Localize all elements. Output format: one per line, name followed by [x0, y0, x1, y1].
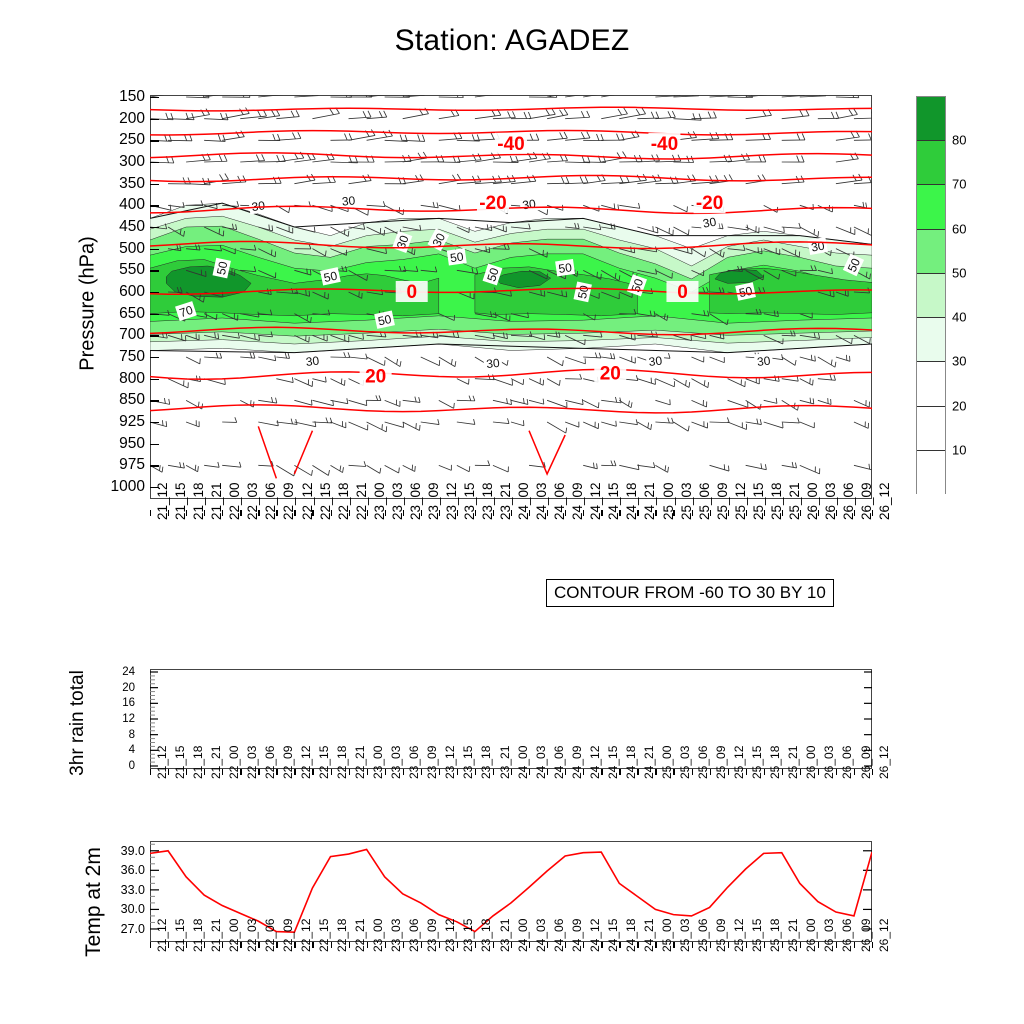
rain-time-label-25_06: 25_06	[696, 746, 710, 779]
pressure-tick-mark	[150, 465, 159, 466]
time-tick-mark	[475, 510, 476, 516]
svg-text:30: 30	[341, 193, 356, 208]
svg-text:-20: -20	[696, 193, 723, 214]
time-tick-mark	[782, 510, 783, 516]
time-tick-mark	[818, 769, 819, 775]
time-tick-mark	[331, 942, 332, 948]
time-tick-mark	[547, 769, 548, 775]
time-tick-mark	[222, 510, 223, 516]
time-tick-mark	[349, 942, 350, 948]
svg-text:20: 20	[600, 363, 621, 384]
time-tick-mark	[547, 510, 548, 516]
time-tick-mark	[439, 769, 440, 775]
time-tick-mark	[457, 942, 458, 948]
rain-time-label-23_03: 23_03	[389, 746, 403, 779]
time-tick-mark	[764, 769, 765, 775]
time-tick-mark	[312, 769, 313, 775]
colorbar-label-40: 40	[952, 310, 966, 325]
temp-time-label-24_18: 24_18	[624, 919, 638, 952]
svg-text:30: 30	[702, 215, 718, 231]
colorbar-band-8	[917, 451, 945, 495]
pressure-tick-mark	[150, 422, 159, 423]
rain-time-label-23_18: 23_18	[479, 746, 493, 779]
rain-time-label-26_09: 26_09	[859, 746, 873, 779]
time-tick-mark	[565, 769, 566, 775]
rain-time-label-24_09: 24_09	[570, 746, 584, 779]
temp-time-label-26_03: 26_03	[822, 919, 836, 952]
contour-label-30: 30	[699, 213, 719, 231]
rain-time-axis-labels: 21_1221_1521_1821_2122_0022_0322_0622_09…	[150, 775, 872, 837]
time-tick-mark	[511, 510, 512, 516]
time-tick-mark	[331, 769, 332, 775]
pressure-tick-600: 600	[119, 283, 145, 301]
time-tick-mark	[728, 942, 729, 948]
temp-time-axis-labels: 21_1221_1521_1821_2122_0022_0322_0622_09…	[150, 948, 872, 1010]
rain-time-label-22_03: 22_03	[245, 746, 259, 779]
svg-text:20: 20	[365, 367, 386, 388]
time-tick-mark	[637, 769, 638, 775]
svg-text:-20: -20	[479, 193, 506, 214]
rain-time-label-21_15: 21_15	[173, 746, 187, 779]
time-tick-mark	[710, 769, 711, 775]
temp-tick-30.0: 30.0	[121, 902, 145, 916]
time-tick-mark	[403, 942, 404, 948]
pressure-tick-mark	[150, 444, 159, 445]
temp-tick-33.0: 33.0	[121, 883, 145, 897]
pressure-tick-mark	[150, 335, 159, 336]
temperature-contour	[150, 369, 872, 379]
rain-time-label-25_15: 25_15	[750, 746, 764, 779]
rain-time-label-23_21: 23_21	[498, 746, 512, 779]
temp-time-label-22_03: 22_03	[245, 919, 259, 952]
time-tick-mark	[619, 942, 620, 948]
time-tick-mark	[421, 942, 422, 948]
contour-label-50: 50	[447, 248, 467, 265]
rain-tick-4: 4	[129, 744, 135, 756]
time-tick-mark	[655, 942, 656, 948]
temp-time-label-24_09: 24_09	[570, 919, 584, 952]
contour-label-30: 30	[646, 352, 665, 369]
time-tick-mark	[655, 510, 656, 516]
time-tick-mark	[782, 942, 783, 948]
time-tick-mark	[728, 510, 729, 516]
rain-time-label-22_21: 22_21	[353, 746, 367, 779]
pressure-tick-450: 450	[119, 218, 145, 236]
time-tick-mark	[276, 510, 277, 516]
time-tick-mark	[385, 510, 386, 516]
time-tick-mark	[673, 942, 674, 948]
pressure-tick-mark	[150, 357, 159, 358]
time-tick-mark	[601, 510, 602, 516]
time-tick-mark	[692, 510, 693, 516]
temp-time-label-25_15: 25_15	[750, 919, 764, 952]
rain-time-label-24_00: 24_00	[516, 746, 530, 779]
time-tick-mark	[294, 942, 295, 948]
time-tick-mark	[872, 769, 873, 775]
rain-time-label-22_15: 22_15	[317, 746, 331, 779]
temp-time-label-25_06: 25_06	[696, 919, 710, 952]
time-tick-mark	[493, 769, 494, 775]
pressure-tick-800: 800	[119, 370, 145, 388]
temp-contour-label-20: 20	[594, 362, 626, 384]
time-tick-mark	[583, 510, 584, 516]
svg-text:30: 30	[521, 197, 536, 213]
time-tick-mark	[349, 510, 350, 516]
contour-caption: CONTOUR FROM -60 TO 30 BY 10	[546, 579, 834, 607]
temp-time-label-21_21: 21_21	[209, 919, 223, 952]
time-tick-mark	[565, 942, 566, 948]
temp-time-label-21_18: 21_18	[191, 919, 205, 952]
time-tick-mark	[854, 942, 855, 948]
contour-label-30: 30	[303, 352, 322, 369]
pressure-tick-mark	[150, 97, 159, 98]
time-tick-mark	[746, 769, 747, 775]
temp-time-label-25_00: 25_00	[660, 919, 674, 952]
temp-time-label-26_00: 26_00	[804, 919, 818, 952]
rain-time-label-25_12: 25_12	[732, 746, 746, 779]
time-tick-mark	[258, 510, 259, 516]
rain-time-label-23_00: 23_00	[371, 746, 385, 779]
time-tick-mark	[421, 769, 422, 775]
time-tick-mark	[186, 510, 187, 516]
pressure-tick-mark	[150, 292, 159, 293]
time-tick-mark	[746, 510, 747, 516]
contour-label-30: 30	[808, 237, 828, 255]
svg-text:0: 0	[677, 282, 688, 303]
rain-time-label-23_09: 23_09	[425, 746, 439, 779]
temp-time-label-26_09: 26_09	[859, 919, 873, 952]
time-tick-mark	[258, 942, 259, 948]
temp-time-label-23_09: 23_09	[425, 919, 439, 952]
pressure-tick-mark	[150, 314, 159, 315]
rain-time-label-24_15: 24_15	[606, 746, 620, 779]
temp-time-label-23_12: 23_12	[443, 919, 457, 952]
time-tick-mark	[673, 510, 674, 516]
colorbar-label-60: 60	[952, 221, 966, 236]
rain-time-label-26_03: 26_03	[822, 746, 836, 779]
pressure-tick-650: 650	[119, 305, 145, 323]
rain-time-label-23_06: 23_06	[407, 746, 421, 779]
time-tick-mark	[294, 769, 295, 775]
rain-time-label-24_21: 24_21	[642, 746, 656, 779]
svg-text:-40: -40	[497, 134, 524, 155]
rain-time-label-21_18: 21_18	[191, 746, 205, 779]
temp-time-label-23_00: 23_00	[371, 919, 385, 952]
colorbar-band-6	[917, 362, 945, 406]
time-tick-mark	[692, 942, 693, 948]
pressure-tick-mark	[150, 249, 159, 250]
pressure-tick-850: 850	[119, 391, 145, 409]
pressure-tick-975: 975	[119, 456, 145, 474]
temp-contour-label-neg40: -40	[495, 133, 527, 155]
time-tick-mark	[836, 510, 837, 516]
time-tick-mark	[457, 769, 458, 775]
contour-label-30: 30	[248, 197, 268, 214]
rain-tick-0: 0	[129, 760, 135, 772]
time-tick-mark	[168, 510, 169, 516]
colorbar-band-5	[917, 318, 945, 362]
rain-time-label-26_06: 26_06	[840, 746, 854, 779]
time-tick-mark	[872, 510, 873, 516]
temp-time-label-24_06: 24_06	[552, 919, 566, 952]
time-tick-mark	[276, 769, 277, 775]
pressure-axis-ticks	[150, 95, 160, 499]
pressure-tick-400: 400	[119, 196, 145, 214]
time-tick-mark	[836, 769, 837, 775]
svg-text:50: 50	[449, 249, 464, 265]
pressure-tick-mark	[150, 205, 159, 206]
rain-time-label-22_09: 22_09	[281, 746, 295, 779]
time-tick-mark	[331, 510, 332, 516]
svg-text:30: 30	[486, 356, 501, 371]
temp-time-label-23_21: 23_21	[498, 919, 512, 952]
time-tick-mark	[403, 769, 404, 775]
temp-time-label-25_09: 25_09	[714, 919, 728, 952]
contour-label-30: 30	[519, 195, 539, 212]
rain-time-label-25_21: 25_21	[786, 746, 800, 779]
time-tick-mark	[511, 769, 512, 775]
temp-time-label-23_15: 23_15	[461, 919, 475, 952]
temp-time-label-24_21: 24_21	[642, 919, 656, 952]
rain-time-label-24_12: 24_12	[588, 746, 602, 779]
temp-time-label-22_15: 22_15	[317, 919, 331, 952]
time-tick-mark	[240, 769, 241, 775]
pressure-tick-200: 200	[119, 110, 145, 128]
svg-text:30: 30	[251, 198, 266, 214]
time-tick-mark	[204, 769, 205, 775]
time-tick-mark	[439, 510, 440, 516]
temp-tick-27.0: 27.0	[121, 922, 145, 936]
pressure-tick-mark	[150, 270, 159, 271]
contour-label-30: 30	[754, 352, 773, 369]
rain-tick-12: 12	[122, 713, 135, 725]
temp-contour-label-0: 0	[396, 281, 428, 303]
pressure-tick-500: 500	[119, 240, 145, 258]
time-tick-mark	[692, 769, 693, 775]
colorbar-label-30: 30	[952, 354, 966, 369]
pressure-tick-mark	[150, 119, 159, 120]
rain-time-label-23_12: 23_12	[443, 746, 457, 779]
svg-text:30: 30	[756, 354, 771, 369]
time-tick-mark	[385, 942, 386, 948]
colorbar-label-80: 80	[952, 133, 966, 148]
colorbar-label-50: 50	[952, 265, 966, 280]
temp-time-label-22_12: 22_12	[299, 919, 313, 952]
svg-text:50: 50	[558, 260, 573, 276]
time-tick-mark	[186, 942, 187, 948]
time-tick-mark	[367, 942, 368, 948]
rain-time-label-24_03: 24_03	[534, 746, 548, 779]
temp-time-label-22_00: 22_00	[227, 919, 241, 952]
time-tick-mark	[746, 942, 747, 948]
rain-time-label-26_12: 26_12	[877, 746, 891, 779]
time-tick-mark	[439, 942, 440, 948]
temp-time-label-21_12: 21_12	[155, 919, 169, 952]
time-tick-mark	[764, 942, 765, 948]
colorbar-band-7	[917, 407, 945, 451]
time-tick-mark	[168, 769, 169, 775]
rain-time-label-25_18: 25_18	[768, 746, 782, 779]
time-tick-mark	[222, 942, 223, 948]
main-time-label-26_12: 26_12	[877, 482, 892, 520]
pressure-tick-mark	[150, 400, 159, 401]
rain-tick-24: 24	[122, 666, 135, 678]
time-tick-mark	[854, 510, 855, 516]
time-tick-mark	[367, 769, 368, 775]
svg-text:-40: -40	[651, 134, 678, 155]
time-tick-mark	[565, 510, 566, 516]
pressure-axis-title: Pressure (hPa)	[77, 154, 100, 454]
rain-tick-8: 8	[129, 729, 135, 741]
pressure-tick-mark	[150, 227, 159, 228]
temp-tick-36.0: 36.0	[121, 863, 145, 877]
temp-time-label-22_21: 22_21	[353, 919, 367, 952]
time-tick-mark	[186, 769, 187, 775]
page-title: Station: AGADEZ	[0, 24, 1024, 58]
contour-label-50: 50	[555, 259, 575, 276]
time-tick-mark	[349, 769, 350, 775]
time-tick-mark	[800, 769, 801, 775]
temp-contour-label-20: 20	[360, 366, 392, 388]
temp-axis-title: Temp at 2m	[82, 802, 106, 1002]
rain-time-label-24_18: 24_18	[624, 746, 638, 779]
rain-time-label-25_03: 25_03	[678, 746, 692, 779]
pressure-tick-550: 550	[119, 261, 145, 279]
colorbar-band-4	[917, 274, 945, 318]
temp-time-label-22_18: 22_18	[335, 919, 349, 952]
colorbar-band-0	[917, 97, 945, 141]
rain-time-label-25_09: 25_09	[714, 746, 728, 779]
time-tick-mark	[150, 769, 151, 775]
svg-text:0: 0	[406, 282, 417, 303]
temp-time-label-21_15: 21_15	[173, 919, 187, 952]
svg-text:30: 30	[810, 238, 826, 254]
time-tick-mark	[511, 942, 512, 948]
temp-time-label-26_12: 26_12	[877, 919, 891, 952]
time-tick-mark	[240, 510, 241, 516]
temp-contour-label-neg20: -20	[477, 192, 509, 214]
time-tick-mark	[150, 942, 151, 948]
pressure-tick-700: 700	[119, 326, 145, 344]
main-time-axis-labels: 21_1221_1521_1821_2122_0022_0322_0622_09…	[150, 516, 872, 586]
pressure-tick-1000: 1000	[111, 478, 145, 496]
rain-time-label-22_12: 22_12	[299, 746, 313, 779]
time-tick-mark	[728, 769, 729, 775]
time-tick-mark	[529, 510, 530, 516]
time-tick-mark	[800, 510, 801, 516]
time-tick-mark	[312, 510, 313, 516]
time-tick-mark	[403, 510, 404, 516]
time-tick-mark	[168, 942, 169, 948]
time-tick-mark	[836, 942, 837, 948]
time-tick-mark	[800, 942, 801, 948]
pressure-tick-mark	[150, 379, 159, 380]
colorbar-label-20: 20	[952, 398, 966, 413]
pressure-tick-mark	[150, 162, 159, 163]
temp-time-label-22_06: 22_06	[263, 919, 277, 952]
time-tick-mark	[655, 769, 656, 775]
rain-tick-20: 20	[122, 682, 135, 694]
temp-contour-label-neg40: -40	[648, 133, 680, 155]
temp-time-label-25_21: 25_21	[786, 919, 800, 952]
pressure-axis-labels: 1502002503003504004505005506006507007508…	[60, 95, 145, 499]
time-tick-mark	[421, 510, 422, 516]
time-tick-mark	[493, 510, 494, 516]
pressure-tick-350: 350	[119, 175, 145, 193]
time-tick-mark	[710, 942, 711, 948]
time-tick-mark	[204, 942, 205, 948]
time-tick-mark	[240, 942, 241, 948]
time-tick-mark	[619, 769, 620, 775]
temp-time-label-25_12: 25_12	[732, 919, 746, 952]
time-tick-mark	[475, 942, 476, 948]
temperature-contour	[150, 107, 872, 111]
rain-time-label-22_18: 22_18	[335, 746, 349, 779]
pressure-tick-mark	[150, 184, 159, 185]
time-tick-mark	[872, 942, 873, 948]
time-tick-mark	[583, 942, 584, 948]
pressure-tick-mark	[150, 140, 159, 141]
rain-tick-16: 16	[122, 697, 135, 709]
rain-time-label-26_00: 26_00	[804, 746, 818, 779]
time-tick-mark	[529, 942, 530, 948]
time-tick-mark	[222, 769, 223, 775]
rain-time-label-23_15: 23_15	[461, 746, 475, 779]
pressure-tick-950: 950	[119, 435, 145, 453]
temp-time-label-23_18: 23_18	[479, 919, 493, 952]
upper-air-cross-section: 3050705030503030505030505050303050303050…	[150, 95, 872, 499]
time-tick-mark	[764, 510, 765, 516]
temperature-contour	[150, 405, 872, 413]
temp-time-label-23_06: 23_06	[407, 919, 421, 952]
colorbar-label-70: 70	[952, 177, 966, 192]
rain-axis-labels: 04812162024	[95, 669, 135, 769]
temp-time-label-24_03: 24_03	[534, 919, 548, 952]
time-tick-mark	[457, 510, 458, 516]
time-tick-mark	[547, 942, 548, 948]
time-tick-mark	[367, 510, 368, 516]
time-tick-mark	[854, 769, 855, 775]
time-tick-mark	[637, 942, 638, 948]
rain-time-label-22_06: 22_06	[263, 746, 277, 779]
rain-time-label-24_06: 24_06	[552, 746, 566, 779]
rain-time-label-22_00: 22_00	[227, 746, 241, 779]
time-tick-mark	[673, 769, 674, 775]
rain-axis-title: 3hr rain total	[67, 623, 89, 823]
time-tick-mark	[204, 510, 205, 516]
temp-contour-label-0: 0	[666, 281, 698, 303]
rain-time-label-25_00: 25_00	[660, 746, 674, 779]
svg-text:30: 30	[648, 354, 663, 369]
colorbar-label-10: 10	[952, 442, 966, 457]
time-tick-mark	[601, 942, 602, 948]
time-tick-mark	[493, 942, 494, 948]
time-tick-mark	[710, 510, 711, 516]
time-tick-mark	[475, 769, 476, 775]
pressure-tick-300: 300	[119, 153, 145, 171]
time-tick-mark	[818, 510, 819, 516]
temp-time-label-23_03: 23_03	[389, 919, 403, 952]
temperature-contour	[258, 426, 565, 478]
time-tick-mark	[312, 942, 313, 948]
time-tick-mark	[385, 769, 386, 775]
temp-time-label-24_15: 24_15	[606, 919, 620, 952]
temp-time-label-24_00: 24_00	[516, 919, 530, 952]
rain-time-label-21_21: 21_21	[209, 746, 223, 779]
time-tick-mark	[637, 510, 638, 516]
temp-time-label-22_09: 22_09	[281, 919, 295, 952]
time-tick-mark	[619, 510, 620, 516]
